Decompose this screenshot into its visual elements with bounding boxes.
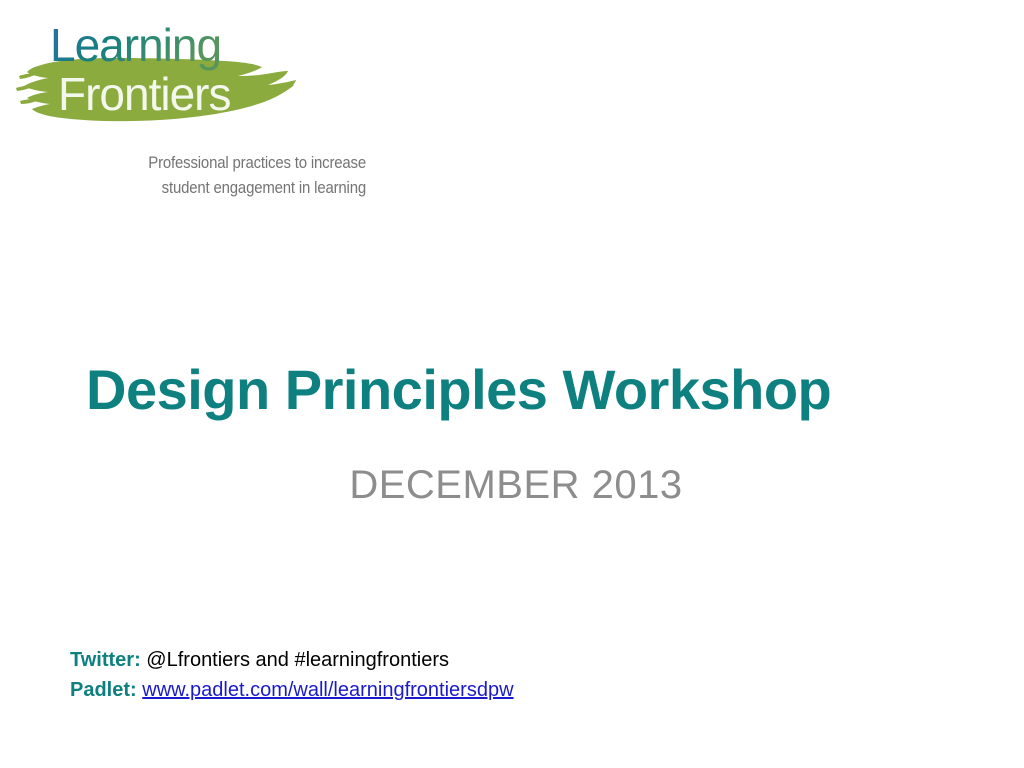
slide-subtitle: DECEMBER 2013 bbox=[86, 462, 946, 508]
logo-tagline: Professional practices to increase stude… bbox=[56, 150, 366, 200]
logo-word-frontiers: Frontiers bbox=[58, 68, 230, 120]
logo-mark: Learning Frontiers bbox=[10, 14, 320, 149]
twitter-handle: @Lfrontiers and #learningfrontiers bbox=[146, 649, 449, 671]
padlet-label: Padlet: bbox=[70, 679, 137, 701]
logo-word-learning: Learning bbox=[50, 19, 221, 71]
padlet-url-link[interactable]: www.padlet.com/wall/learningfrontiersdpw bbox=[142, 679, 513, 701]
presentation-slide: Learning Frontiers Professional practice… bbox=[0, 0, 1024, 768]
contact-block: Twitter: @Lfrontiers and #learningfronti… bbox=[70, 645, 870, 705]
logo-tagline-line-1: Professional practices to increase bbox=[56, 150, 366, 175]
slide-title: Design Principles Workshop bbox=[86, 359, 946, 421]
contact-row-padlet: Padlet: www.padlet.com/wall/learningfron… bbox=[70, 675, 870, 705]
twitter-label: Twitter: bbox=[70, 649, 141, 671]
logo-tagline-line-2: student engagement in learning bbox=[56, 175, 366, 200]
learning-frontiers-logo: Learning Frontiers Professional practice… bbox=[0, 0, 400, 215]
contact-row-twitter: Twitter: @Lfrontiers and #learningfronti… bbox=[70, 645, 870, 675]
